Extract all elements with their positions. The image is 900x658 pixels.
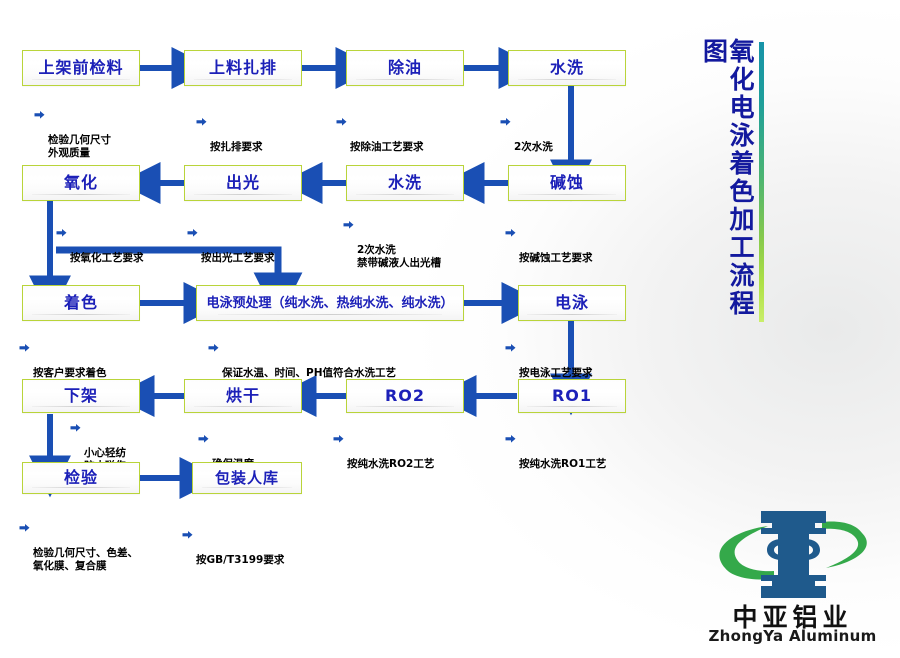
node-label: 电泳 — [555, 295, 589, 311]
note-除油: 按除油工艺要求 — [350, 115, 424, 154]
note-text: 按出光工艺要求 — [201, 252, 275, 264]
note-text: 按碱蚀工艺要求 — [519, 252, 593, 264]
node-label: 烘干 — [226, 388, 260, 404]
note-text: 按除油工艺要求 — [350, 141, 424, 153]
note-text: 按客户要求着色 — [33, 367, 107, 379]
node-RO1[interactable]: RO1 — [518, 379, 626, 413]
node-氧化[interactable]: 氧化 — [22, 165, 140, 201]
note-水洗-row2: 2次水洗 禁带碱液人出光槽 — [357, 218, 441, 270]
note-包装人库: 按GB/T3199要求 — [196, 528, 284, 567]
node-label: 包装人库 — [215, 471, 279, 486]
note-检验: 检验几何尺寸、色差、 氧化膜、复合膜 — [33, 521, 138, 573]
note-水洗-row1: 2次水洗 — [514, 115, 553, 154]
note-出光: 按出光工艺要求 — [201, 226, 275, 265]
note-着色: 按客户要求着色 — [33, 341, 107, 380]
note-电泳: 按电泳工艺要求 — [519, 341, 593, 380]
node-上料扎排[interactable]: 上料扎排 — [184, 50, 302, 86]
node-水洗-row1[interactable]: 水洗 — [508, 50, 626, 86]
node-电泳预处理[interactable]: 电泳预处理（纯水洗、热纯水洗、纯水洗） — [196, 285, 464, 321]
node-label: 氧化 — [64, 175, 98, 191]
node-RO2[interactable]: RO2 — [346, 379, 464, 413]
title-block: 氧化电泳着色加工流程图 — [700, 38, 770, 328]
node-包装人库[interactable]: 包装人库 — [192, 462, 302, 494]
flowchart-page: 上架前检料 上料扎排 除油 水洗 检验几何尺寸 外观质量 按扎排要求 按除油工艺… — [0, 0, 900, 658]
note-上料扎排: 按扎排要求 — [210, 115, 263, 154]
note-text: 按扎排要求 — [210, 141, 263, 153]
note-RO1: 按纯水洗RO1工艺 — [519, 432, 606, 471]
node-label: 碱蚀 — [550, 175, 584, 191]
note-text: 2次水洗 禁带碱液人出光槽 — [357, 244, 441, 269]
note-text: 按纯水洗RO2工艺 — [347, 458, 434, 470]
node-label: 上料扎排 — [209, 60, 277, 76]
node-下架[interactable]: 下架 — [22, 379, 140, 413]
node-碱蚀[interactable]: 碱蚀 — [508, 165, 626, 201]
node-label: 水洗 — [550, 60, 584, 76]
node-label: 下架 — [64, 388, 98, 404]
node-label: RO1 — [552, 388, 592, 404]
node-label: 水洗 — [388, 175, 422, 191]
page-title: 氧化电泳着色加工流程图 — [700, 38, 753, 328]
node-烘干[interactable]: 烘干 — [184, 379, 302, 413]
note-上架前检料: 检验几何尺寸 外观质量 — [48, 108, 111, 160]
note-text: 检验几何尺寸 外观质量 — [48, 134, 111, 159]
title-gradient-rule — [759, 42, 764, 322]
note-text: 检验几何尺寸、色差、 氧化膜、复合膜 — [33, 547, 138, 572]
node-label: 电泳预处理（纯水洗、热纯水洗、纯水洗） — [206, 297, 453, 310]
logo-mark-icon — [690, 505, 895, 600]
note-text: 按电泳工艺要求 — [519, 367, 593, 379]
node-水洗-row2[interactable]: 水洗 — [346, 165, 464, 201]
node-label: 上架前检料 — [38, 60, 123, 76]
note-text: 保证水温、时间、PH值符合水洗工艺 — [222, 367, 396, 379]
node-label: 着色 — [64, 295, 98, 311]
node-label: 检验 — [64, 470, 98, 486]
note-text: 按GB/T3199要求 — [196, 554, 284, 566]
node-着色[interactable]: 着色 — [22, 285, 140, 321]
node-label: 除油 — [388, 60, 422, 76]
note-text: 2次水洗 — [514, 141, 553, 153]
logo-english-name: ZhongYa Aluminum — [690, 627, 895, 645]
note-氧化: 按氧化工艺要求 — [70, 226, 144, 265]
node-电泳[interactable]: 电泳 — [518, 285, 626, 321]
node-出光[interactable]: 出光 — [184, 165, 302, 201]
node-label: RO2 — [385, 388, 425, 404]
node-除油[interactable]: 除油 — [346, 50, 464, 86]
node-检验[interactable]: 检验 — [22, 462, 140, 494]
company-logo: 中亚铝业 ZhongYa Aluminum — [690, 505, 895, 650]
note-碱蚀: 按碱蚀工艺要求 — [519, 226, 593, 265]
note-RO2: 按纯水洗RO2工艺 — [347, 432, 434, 471]
note-text: 按氧化工艺要求 — [70, 252, 144, 264]
note-电泳预处理: 保证水温、时间、PH值符合水洗工艺 — [222, 341, 396, 380]
node-label: 出光 — [226, 175, 260, 191]
node-上架前检料[interactable]: 上架前检料 — [22, 50, 140, 86]
note-text: 按纯水洗RO1工艺 — [519, 458, 606, 470]
